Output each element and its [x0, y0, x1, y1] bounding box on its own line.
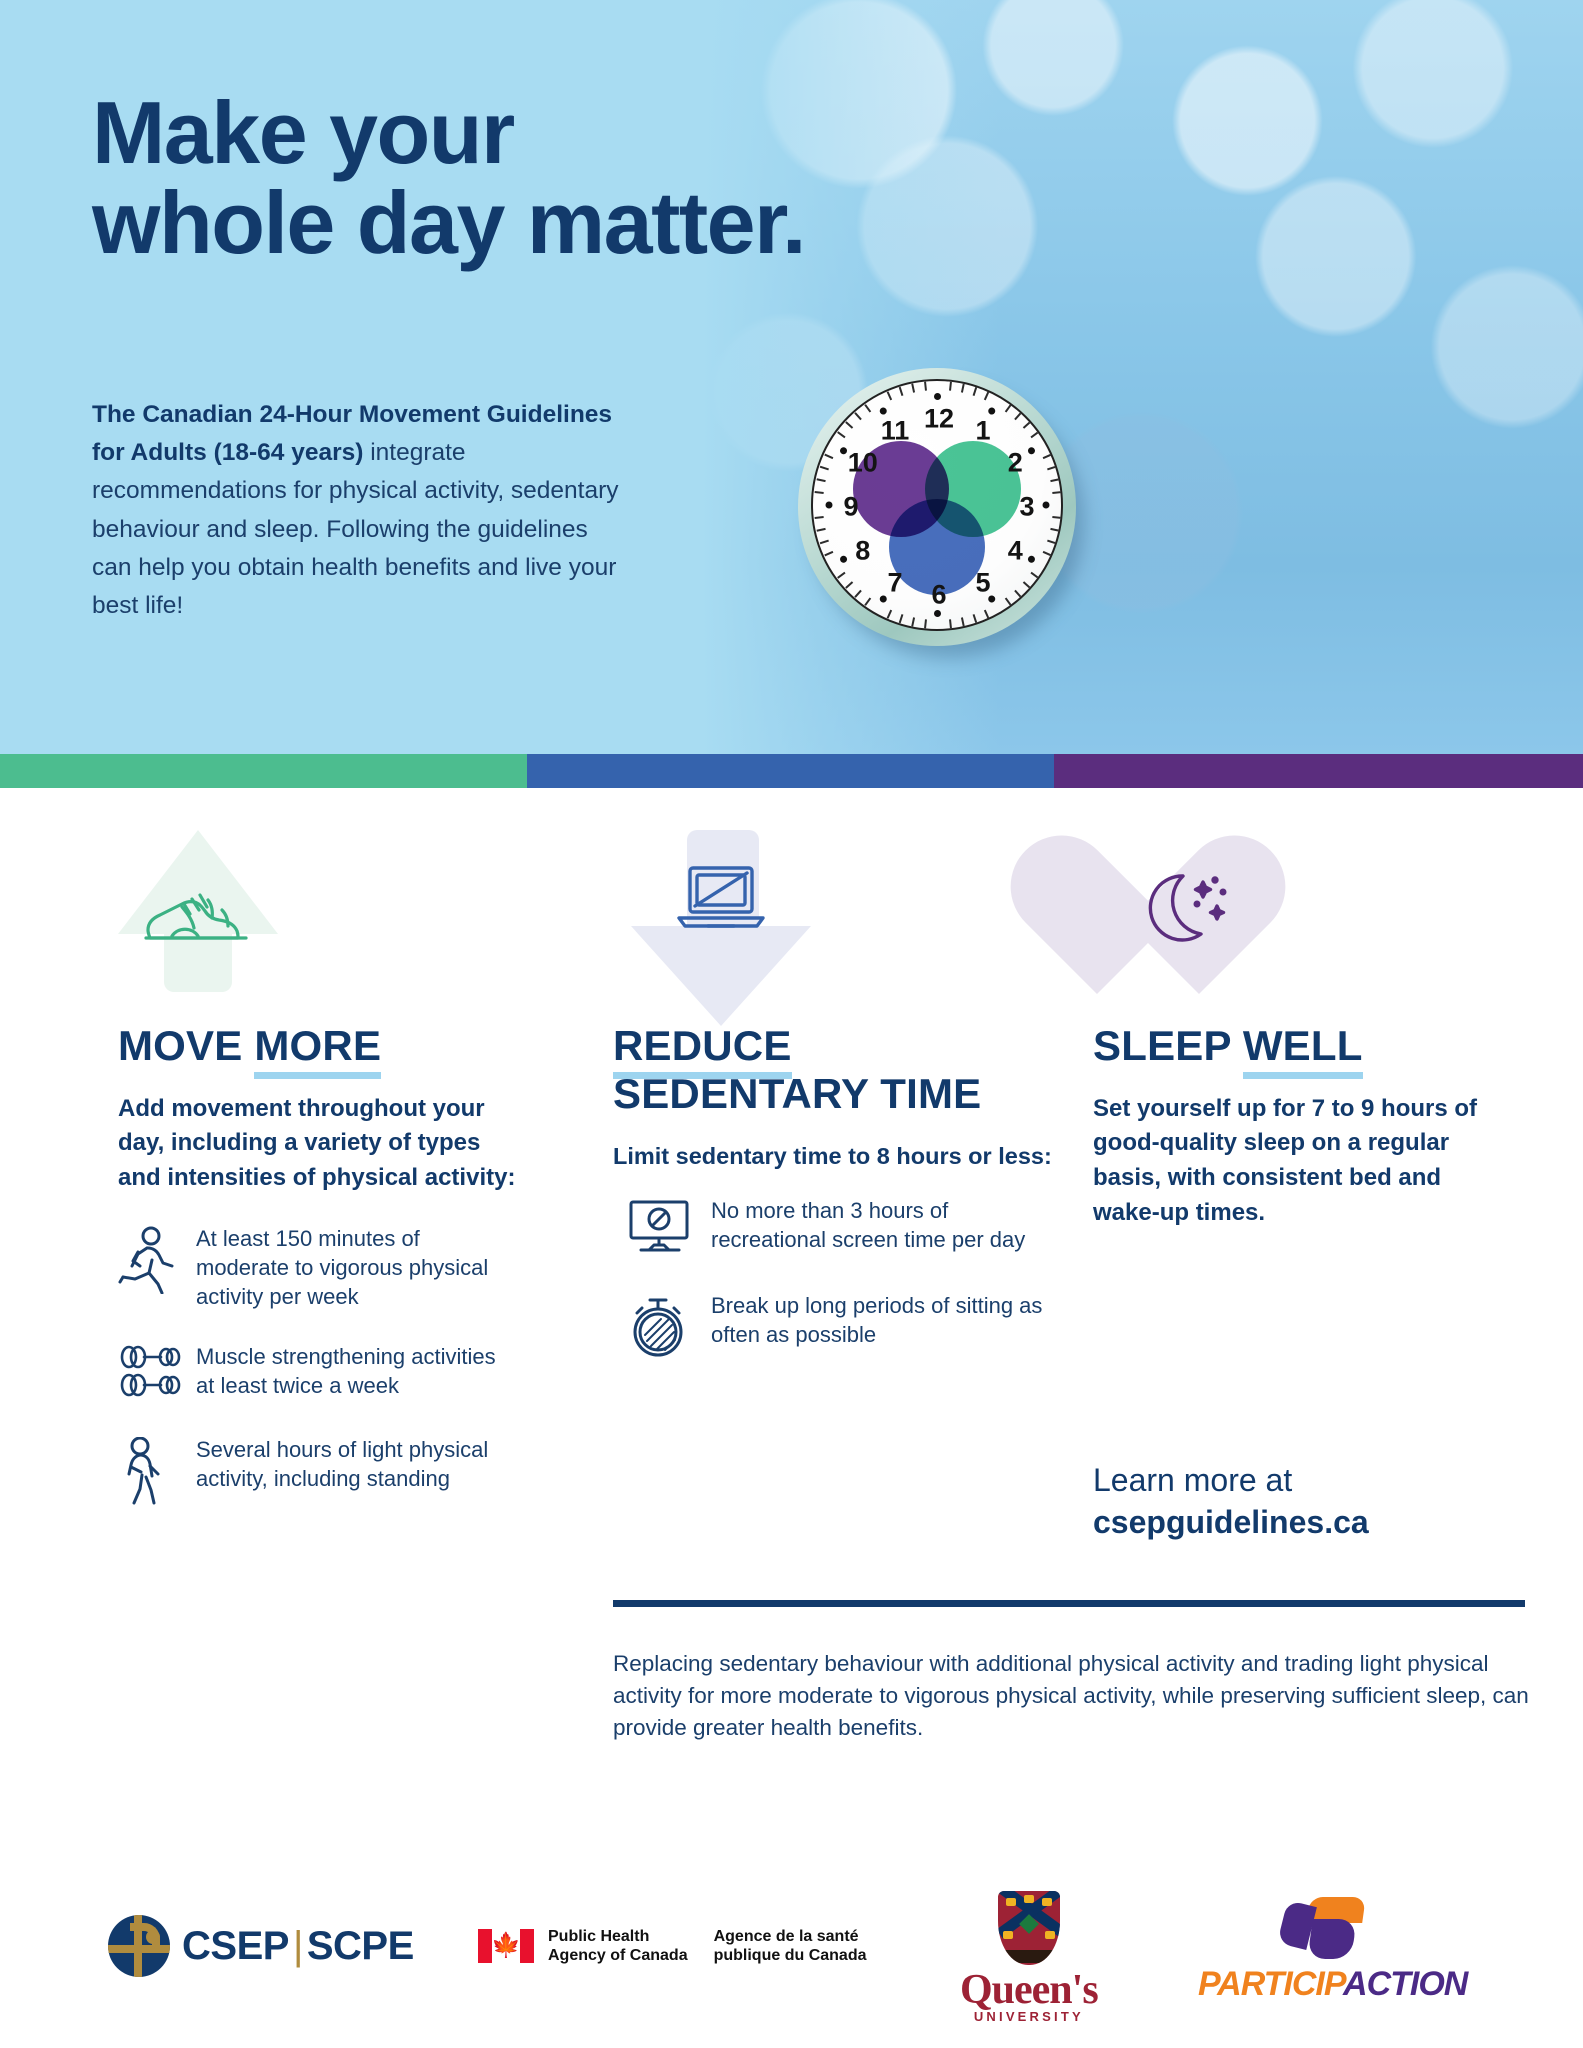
walking-person-icon [118, 1435, 196, 1514]
clock-hour-dot [878, 594, 888, 604]
clock-minute-tick [984, 610, 989, 619]
laptop-crossed-out-icon [675, 862, 767, 941]
clock-minute-tick [924, 619, 927, 628]
participaction-swoosh-icon [1280, 1897, 1364, 1961]
logo-queens-university: Queen's UNIVERSITY [960, 1891, 1098, 2024]
clock-numeral-9: 9 [843, 492, 858, 523]
phac-english-text: Public Health Agency of Canada [548, 1927, 688, 1965]
clock-minute-tick [1047, 540, 1056, 545]
participaction-part2: ACTION [1343, 1965, 1467, 2003]
list-item-label: Muscle strengthening activities at least… [196, 1342, 518, 1401]
reduce-lead: Limit sedentary time to 8 hours or less: [613, 1140, 1053, 1174]
phac-french-line1: Agence de la santé [714, 1927, 867, 1946]
logo-csep-scpe: CSEP|SCPE [108, 1915, 414, 1977]
learn-more-label: Learn more at [1093, 1462, 1292, 1498]
logo-participaction: PARTICIPACTION [1198, 1897, 1467, 2001]
clock-numeral-4: 4 [1008, 536, 1023, 567]
clock-minute-tick [1023, 421, 1031, 429]
clock-minute-tick [1005, 404, 1012, 412]
clock-minute-tick [1023, 581, 1031, 589]
clock-minute-tick [887, 610, 892, 619]
column-sleep-well: SLEEP WELL Set yourself up for 7 to 9 ho… [1093, 830, 1513, 1230]
queens-crown-4 [1003, 1931, 1013, 1939]
reduce-badge [613, 830, 1053, 1010]
phac-english-line1: Public Health [548, 1927, 688, 1946]
queens-shield-icon [998, 1891, 1060, 1965]
phac-english-line2: Agency of Canada [548, 1946, 688, 1965]
clock-hour-dot [825, 502, 832, 509]
dumbbells-icon [118, 1342, 196, 1405]
clock-minute-tick [899, 387, 904, 396]
clock-minute-tick [911, 384, 915, 393]
sleep-well-title: SLEEP WELL [1093, 1022, 1513, 1070]
list-item: At least 150 minutes of moderate to vigo… [118, 1224, 518, 1312]
phac-french-text: Agence de la santé publique du Canada [714, 1927, 867, 1965]
clock-hour-dot [934, 610, 941, 617]
list-item-label: At least 150 minutes of moderate to vigo… [196, 1224, 518, 1312]
clock-hour-dot [838, 446, 848, 456]
csep-name-en: CSEP [182, 1924, 289, 1968]
closing-paragraph: Replacing sedentary behaviour with addit… [613, 1648, 1543, 1744]
learn-more-url[interactable]: csepguidelines.ca [1093, 1504, 1369, 1540]
clock-minute-tick [815, 491, 824, 494]
page-title: Make your whole day matter. [92, 88, 992, 268]
csep-separator: | [289, 1924, 307, 1968]
clock-minute-tick [924, 382, 927, 391]
hero-paragraph-bold: The Canadian 24-Hour Movement Guidelines… [92, 401, 612, 466]
reduce-bullets: No more than 3 hours of recreational scr… [627, 1196, 1053, 1364]
clock-numeral-5: 5 [975, 568, 990, 599]
clock-minute-tick [820, 540, 829, 545]
canada-flag-icon: 🍁 [478, 1929, 534, 1963]
clock-minute-tick [1043, 551, 1052, 556]
clock-hour-dot [1042, 502, 1049, 509]
clock-hour-dot [838, 554, 848, 564]
arrow-down-head [631, 926, 811, 1026]
clock-minute-tick [1050, 528, 1059, 532]
clock-minute-tick [1052, 491, 1061, 494]
queens-crown-1 [1006, 1898, 1016, 1906]
hero-section: Make your whole day matter. The Canadian… [0, 0, 1583, 754]
runner-icon [118, 1224, 196, 1299]
list-item: No more than 3 hours of recreational scr… [627, 1196, 1053, 1261]
move-more-bullets: At least 150 minutes of moderate to vigo… [118, 1224, 518, 1514]
clock-minute-tick [824, 551, 833, 556]
clock-minute-tick [1052, 516, 1061, 519]
clock-minute-tick [973, 387, 978, 396]
learn-more-block: Learn more at csepguidelines.ca [1093, 1460, 1533, 1543]
clock-minute-tick [961, 384, 965, 393]
flag-band-right [520, 1929, 534, 1963]
clock-minute-tick [817, 478, 826, 482]
clock-hour-dot [934, 393, 941, 400]
list-item: Several hours of light physical activity… [118, 1435, 518, 1514]
crescent-moon-stars-icon [1137, 866, 1233, 957]
clock-numeral-1: 1 [975, 415, 990, 446]
page-title-line1: Make your [92, 83, 514, 182]
clock-numeral-8: 8 [855, 536, 870, 567]
clock-numeral-7: 7 [887, 568, 902, 599]
queens-scroll [1000, 1950, 1058, 1963]
clock-minute-tick [864, 404, 871, 412]
clock-numeral-11: 11 [881, 415, 910, 446]
running-shoe-icon [142, 886, 254, 955]
sleep-well-title-plain: SLEEP [1093, 1022, 1243, 1069]
queens-subtitle: UNIVERSITY [974, 2009, 1084, 2024]
csep-name-fr: SCPE [307, 1924, 414, 1968]
stopwatch-icon [627, 1291, 711, 1364]
move-more-title-underlined: MORE [254, 1022, 381, 1079]
hero-paragraph: The Canadian 24-Hour Movement Guidelines… [92, 396, 632, 625]
queens-crown-2 [1024, 1895, 1034, 1903]
clock-venn-graphic: 121234567891011 [798, 368, 1088, 660]
list-item: Muscle strengthening activities at least… [118, 1342, 518, 1405]
list-item-label: Break up long periods of sitting as ofte… [711, 1291, 1053, 1350]
color-bar-green [0, 754, 527, 788]
csep-emblem-icon [108, 1915, 170, 1977]
poster-page: Make your whole day matter. The Canadian… [0, 0, 1583, 2048]
move-more-badge [118, 830, 518, 1010]
clock-minute-tick [949, 382, 952, 391]
clock-minute-tick [845, 421, 853, 429]
list-item-label: Several hours of light physical activity… [196, 1435, 518, 1494]
sleep-well-title-underlined: WELL [1243, 1022, 1363, 1079]
reduce-title-line2: SEDENTARY TIME [613, 1070, 1053, 1118]
clock-minute-tick [973, 614, 978, 623]
clock-hour-dot [1026, 446, 1036, 456]
closing-divider [613, 1600, 1525, 1607]
clock-minute-tick [837, 431, 845, 438]
clock-minute-tick [1030, 572, 1038, 579]
clock-minute-tick [820, 466, 829, 471]
queens-wordmark: Queen's [960, 1969, 1098, 2011]
flag-middle: 🍁 [492, 1929, 520, 1963]
clock-minute-tick [1043, 454, 1052, 459]
monitor-no-screen-icon [627, 1196, 711, 1261]
queens-crown-5 [1045, 1931, 1055, 1939]
color-bar-blue [527, 754, 1054, 788]
clock-minute-tick [911, 617, 915, 626]
flag-band-left [478, 1929, 492, 1963]
clock-face: 121234567891011 [811, 379, 1063, 631]
footer-logos: CSEP|SCPE 🍁 Public Health Agency of Cana… [0, 1875, 1583, 2048]
clock-minute-tick [845, 581, 853, 589]
clock-numeral-3: 3 [1019, 492, 1034, 523]
clock-minute-tick [961, 617, 965, 626]
move-more-title: MOVE MORE [118, 1022, 518, 1070]
column-move-more: MOVE MORE Add movement throughout your d… [118, 830, 518, 1544]
phac-french-line2: publique du Canada [714, 1946, 867, 1965]
reduce-title: REDUCE SEDENTARY TIME [613, 1022, 1053, 1118]
clock-numeral-10: 10 [848, 448, 878, 479]
clock-minute-tick [854, 590, 862, 598]
clock-minute-tick [949, 619, 952, 628]
participaction-part1: PARTICIP [1198, 1965, 1343, 2003]
clock-minute-tick [1047, 466, 1056, 471]
move-more-title-plain: MOVE [118, 1022, 254, 1069]
clock-minute-tick [887, 391, 892, 400]
clock-minute-tick [1005, 597, 1012, 605]
color-bar-purple [1054, 754, 1583, 788]
clock-minute-tick [899, 614, 904, 623]
clock-minute-tick [854, 412, 862, 420]
list-item-label: No more than 3 hours of recreational scr… [711, 1196, 1053, 1255]
logo-public-health-agency-canada: 🍁 Public Health Agency of Canada Agence … [478, 1927, 866, 1965]
clock-numeral-6: 6 [931, 580, 946, 611]
column-reduce-sedentary-time: REDUCE SEDENTARY TIME Limit sedentary ti… [613, 830, 1053, 1394]
page-title-line2: whole day matter. [92, 173, 805, 272]
clock-hour-dot [1026, 554, 1036, 564]
clock-minute-tick [1014, 412, 1022, 420]
clock-minute-tick [817, 528, 826, 532]
participaction-swoosh-purple-lower [1307, 1919, 1357, 1959]
clock-minute-tick [1030, 431, 1038, 438]
participaction-wordmark: PARTICIPACTION [1198, 1967, 1467, 2001]
queens-crown-3 [1042, 1898, 1052, 1906]
list-item: Break up long periods of sitting as ofte… [627, 1291, 1053, 1364]
clock-minute-tick [984, 391, 989, 400]
clock-minute-tick [824, 454, 833, 459]
csep-wordmark: CSEP|SCPE [182, 1924, 414, 1969]
sleep-badge [1093, 830, 1513, 1010]
clock-minute-tick [864, 597, 871, 605]
clock-minute-tick [815, 516, 824, 519]
clock-numeral-2: 2 [1008, 448, 1023, 479]
clock-numeral-12: 12 [924, 404, 954, 435]
csep-dot [146, 1930, 160, 1944]
clock-minute-tick [1050, 478, 1059, 482]
clock-minute-tick [1014, 590, 1022, 598]
maple-leaf-icon: 🍁 [491, 1934, 521, 1958]
move-more-lead: Add movement throughout your day, includ… [118, 1092, 518, 1196]
sleep-well-lead: Set yourself up for 7 to 9 hours of good… [1093, 1092, 1513, 1230]
clock-minute-tick [837, 572, 845, 579]
